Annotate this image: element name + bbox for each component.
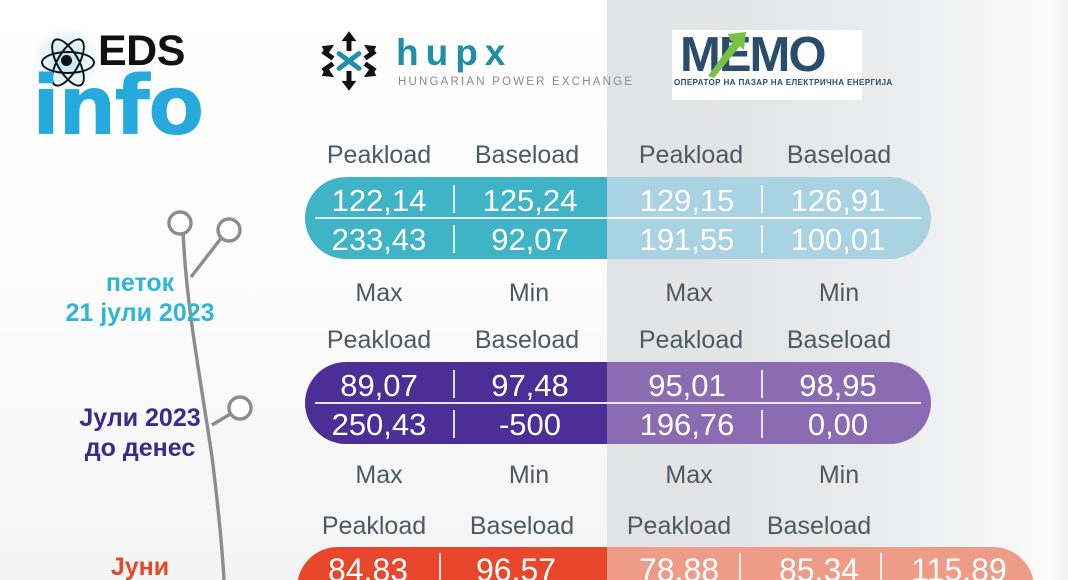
- value-hupx-baseload-min: 125,24: [455, 180, 605, 221]
- data-pill-month: 89,07 97,48 250,43 -500 95,01 98,95 196,…: [305, 362, 931, 444]
- hupx-logo: hupx HUNGARIAN POWER EXCHANGE: [318, 30, 583, 92]
- header-memo-peakload: Peakload: [620, 140, 762, 170]
- value-memo-baseload-min: 126,91: [763, 180, 913, 221]
- data-pill-day: 122,14 125,24 233,43 92,07 129,15 126,91…: [305, 177, 931, 259]
- value-hupx-baseload-min: 97,48: [455, 365, 605, 406]
- value-memo-baseload-min2: 100,01: [763, 219, 913, 259]
- value-memo-baseload-min2: 0,00: [763, 404, 913, 444]
- header-hupx-baseload: Baseload: [453, 325, 601, 355]
- eds-info-logo: EDS info: [30, 22, 280, 132]
- value-memo-extra: 115,89: [889, 550, 1029, 580]
- header-memo-peakload: Peakload: [620, 325, 762, 355]
- hupx-hexagon-arrows-icon: [318, 30, 380, 92]
- value-hupx-peakload: 84,83: [297, 550, 439, 580]
- value-hupx-peakload-max: 122,14: [305, 180, 453, 221]
- section-label-month: Јули 2023 до денес: [0, 403, 280, 463]
- footer-memo-min: Min: [765, 278, 913, 308]
- value-hupx-peakload-max2: 233,43: [305, 219, 453, 259]
- header-hupx-peakload: Peakload: [305, 140, 453, 170]
- header-hupx-baseload: Baseload: [448, 511, 596, 541]
- footer-memo-max: Max: [615, 460, 763, 490]
- data-pill-prev-month: 84,83 96,57 78,88 85,34 115,89: [297, 547, 1034, 580]
- header-hupx-peakload: Peakload: [305, 325, 453, 355]
- footer-memo-min: Min: [765, 460, 913, 490]
- label-line-1: Јули 2023: [0, 403, 280, 433]
- label-line-2: 21 јули 2023: [0, 298, 280, 328]
- panel-right-edge: [1050, 0, 1068, 580]
- value-memo-baseload-min: 98,95: [763, 365, 913, 406]
- header-hupx-baseload: Baseload: [453, 140, 601, 170]
- value-memo-peakload-max: 95,01: [615, 365, 759, 406]
- hupx-wordmark: hupx: [396, 34, 512, 71]
- label-line-2: до денес: [0, 433, 280, 463]
- label-line-1: петок: [0, 268, 280, 298]
- section-label-prev-month: Јуни: [0, 552, 280, 580]
- footer-hupx-min: Min: [455, 460, 603, 490]
- header-memo-peakload: Peakload: [608, 511, 750, 541]
- info-wordmark: info: [32, 66, 203, 148]
- memo-subtitle: ОПЕРАТОР НА ПАЗАР НА ЕЛЕКТРИЧНА ЕНЕРГИЈА: [674, 78, 893, 87]
- value-hupx-baseload-min2: -500: [455, 404, 605, 444]
- footer-hupx-max: Max: [305, 460, 453, 490]
- value-memo-baseload: 85,34: [749, 550, 889, 580]
- value-memo-peakload-max2: 191,55: [615, 219, 759, 259]
- section-label-day: петок 21 јули 2023: [0, 268, 280, 328]
- hupx-subtitle: HUNGARIAN POWER EXCHANGE: [398, 76, 634, 88]
- memo-green-arrow-icon: [706, 30, 750, 78]
- value-hupx-baseload-min2: 92,07: [455, 219, 605, 259]
- header-hupx-peakload: Peakload: [300, 511, 448, 541]
- header-memo-baseload: Baseload: [768, 325, 910, 355]
- value-memo-peakload-max: 129,15: [615, 180, 759, 221]
- footer-hupx-max: Max: [305, 278, 453, 308]
- memo-logo: MEMO ОПЕРАТОР НА ПАЗАР НА ЕЛЕКТРИЧНА ЕНЕ…: [672, 30, 862, 100]
- value-hupx-baseload: 96,57: [441, 550, 591, 580]
- value-hupx-peakload-max2: 250,43: [305, 404, 453, 444]
- infographic-page: EDS info hupx: [0, 0, 1068, 580]
- value-memo-peakload-max2: 196,76: [615, 404, 759, 444]
- label-line-1: Јуни: [0, 552, 280, 580]
- footer-hupx-min: Min: [455, 278, 603, 308]
- value-hupx-peakload-max: 89,07: [305, 365, 453, 406]
- header-memo-baseload: Baseload: [748, 511, 890, 541]
- memo-wordmark: MEMO: [680, 31, 824, 80]
- footer-memo-max: Max: [615, 278, 763, 308]
- value-memo-peakload: 78,88: [609, 550, 749, 580]
- header-memo-baseload: Baseload: [768, 140, 910, 170]
